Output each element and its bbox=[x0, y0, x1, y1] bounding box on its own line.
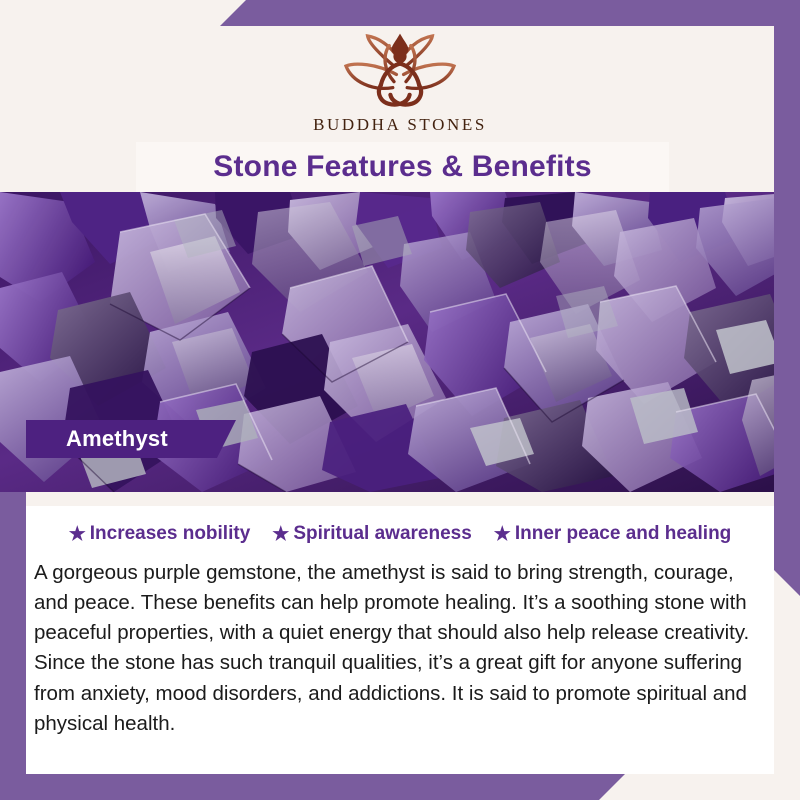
benefit-label: Spiritual awareness bbox=[293, 523, 471, 545]
frame-right-accent bbox=[774, 0, 800, 596]
page-title: Stone Features & Benefits bbox=[213, 152, 591, 182]
star-icon: ★ bbox=[69, 525, 86, 544]
divider-strip bbox=[26, 492, 774, 506]
stone-name-ribbon: Amethyst bbox=[26, 420, 236, 458]
frame-left-accent bbox=[0, 492, 26, 800]
frame-bottom-accent bbox=[0, 774, 625, 800]
stone-info-card: BUDDHA STONES Stone Features & Benefits bbox=[0, 0, 800, 800]
benefit-label: Increases nobility bbox=[90, 523, 251, 545]
benefit-item-1: ★ Increases nobility bbox=[69, 523, 251, 545]
lotus-meditation-icon bbox=[334, 30, 466, 114]
star-icon: ★ bbox=[272, 525, 289, 544]
stone-name-label: Amethyst bbox=[26, 426, 168, 452]
title-banner: Stone Features & Benefits bbox=[26, 142, 774, 192]
brand-wordmark: BUDDHA STONES bbox=[313, 115, 487, 135]
frame-top-accent bbox=[220, 0, 800, 26]
stone-description: A gorgeous purple gemstone, the amethyst… bbox=[34, 558, 772, 739]
title-plate: Stone Features & Benefits bbox=[136, 142, 669, 192]
brand-header: BUDDHA STONES bbox=[26, 26, 774, 142]
benefit-item-2: ★ Spiritual awareness bbox=[272, 523, 472, 545]
benefits-row: ★ Increases nobility ★ Spiritual awarene… bbox=[26, 517, 774, 551]
amethyst-hero-image: Amethyst bbox=[0, 192, 800, 492]
star-icon: ★ bbox=[494, 525, 511, 544]
benefit-item-3: ★ Inner peace and healing bbox=[494, 523, 732, 545]
benefit-label: Inner peace and healing bbox=[515, 523, 731, 545]
